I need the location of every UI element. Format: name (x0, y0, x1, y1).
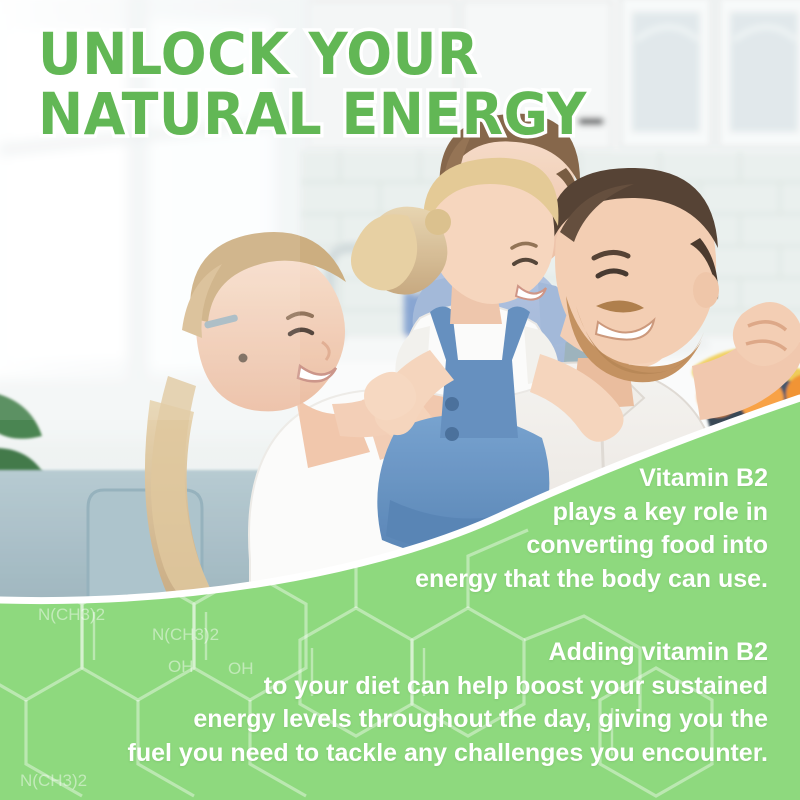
page-title: UNLOCK YOUR UNLOCK YOUR NATURAL ENERGY N… (38, 26, 758, 142)
promo-poster: N N(CH3)2 N(CH3)2 OH OH N(CH3)2 UNLOCK Y… (0, 0, 800, 800)
headline-line-1: UNLOCK YOUR UNLOCK YOUR (38, 26, 758, 82)
headline-line-2-fill: NATURAL ENERGY (38, 86, 587, 143)
benefit-1-line-3: converting food into (68, 529, 768, 563)
benefit-paragraph-1: Vitamin B2 plays a key role in convertin… (68, 462, 768, 596)
benefit-1-line-2: plays a key role in (68, 496, 768, 530)
benefit-2-line-2: to your diet can help boost your sustain… (8, 670, 768, 704)
watermark-label-nch3-3: N(CH3)2 (20, 771, 87, 790)
benefit-1-line-4: energy that the body can use. (68, 563, 768, 597)
benefit-1-line-1: Vitamin B2 (68, 462, 768, 496)
benefit-2-line-1: Adding vitamin B2 (8, 636, 768, 670)
headline-line-1-fill: UNLOCK YOUR (38, 26, 479, 83)
benefit-2-line-3: energy levels throughout the day, giving… (8, 703, 768, 737)
headline-line-2: NATURAL ENERGY NATURAL ENERGY (38, 86, 758, 142)
benefit-2-line-4: fuel you need to tackle any challenges y… (8, 737, 768, 771)
benefit-paragraph-2: Adding vitamin B2 to your diet can help … (8, 636, 768, 770)
